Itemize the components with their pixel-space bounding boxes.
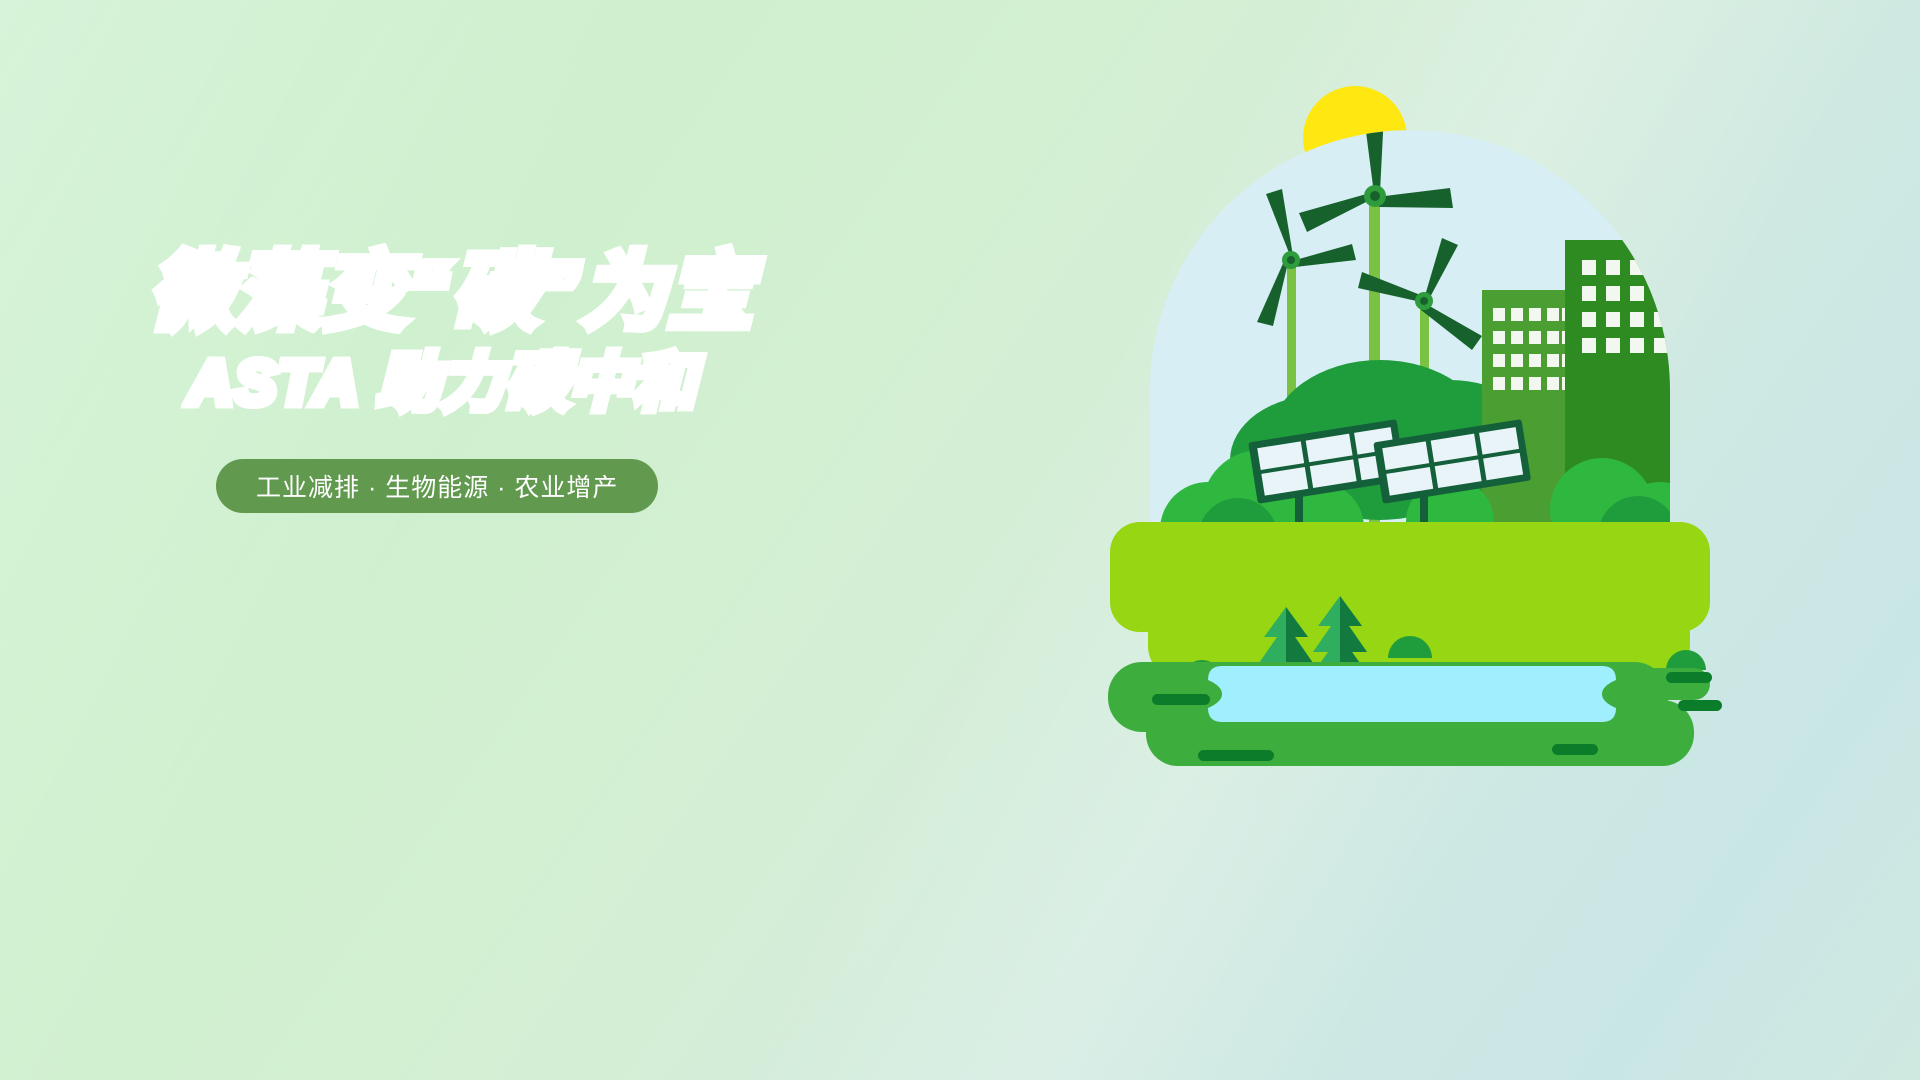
- eco-banner: 微藻变“碳”为宝 微藻变“碳”为宝 ASTA 助力碳中和 ASTA 助力碳中和 …: [0, 0, 1920, 1080]
- keywords-badge: 工业减排 · 生物能源 · 农业增产: [216, 459, 658, 513]
- headline-line-1: 微藻变“碳”为宝 微藻变“碳”为宝: [150, 248, 910, 337]
- water-body: [1208, 666, 1616, 722]
- headline-block: 微藻变“碳”为宝 微藻变“碳”为宝 ASTA 助力碳中和 ASTA 助力碳中和 …: [150, 248, 910, 513]
- headline-line-2-fill: ASTA 助力碳中和: [188, 349, 697, 418]
- headline-line-2-row: ASTA 助力碳中和 ASTA 助力碳中和: [150, 351, 910, 417]
- eco-city-illustration: [1090, 60, 1730, 780]
- headline-line-1-fill: 微藻变“碳”为宝: [150, 245, 754, 339]
- headline-line-2: ASTA 助力碳中和 ASTA 助力碳中和: [188, 351, 910, 417]
- pond-area: [1108, 662, 1722, 766]
